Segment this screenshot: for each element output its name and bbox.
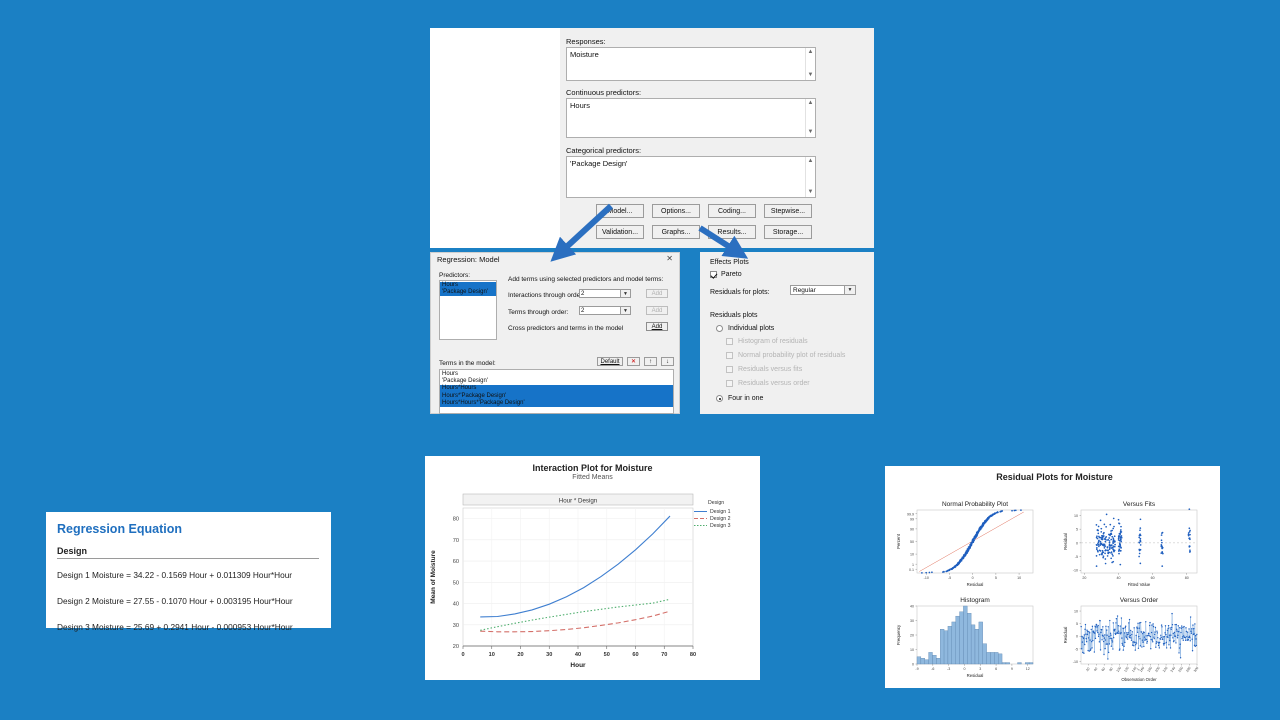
add-terms-label: Add	[652, 308, 663, 314]
stepwise-button-label: Stepwise...	[771, 208, 805, 215]
effects-plots-panel: Effects Plots Pareto Residuals for plots…	[700, 252, 874, 414]
histogram-of-residuals-label: Histogram of residuals	[738, 337, 808, 346]
terms-order-value: 2	[581, 308, 584, 314]
card-accent-bottom	[425, 680, 760, 684]
close-icon: ✕	[631, 358, 636, 365]
svg-text:10: 10	[489, 652, 495, 658]
legend-swatch	[694, 518, 707, 519]
interactions-order-value: 2	[581, 291, 584, 297]
svg-text:120: 120	[1123, 666, 1130, 673]
interaction-plot-title: Interaction Plot for Moisture	[425, 463, 760, 473]
svg-text:140: 140	[1131, 666, 1138, 673]
terms-order-select[interactable]: 2 ▼	[579, 306, 631, 315]
svg-text:-5: -5	[1075, 647, 1078, 651]
svg-text:Mean of Moisture: Mean of Moisture	[430, 550, 437, 604]
svg-text:40: 40	[575, 652, 581, 658]
checkbox-icon[interactable]	[726, 352, 733, 359]
svg-text:99.9: 99.9	[907, 512, 914, 516]
normal-probability-plot-row[interactable]: Normal probability plot of residuals	[726, 351, 845, 360]
regression-equation-title: Regression Equation	[57, 522, 319, 536]
default-button[interactable]: Default	[597, 357, 623, 366]
svg-text:80: 80	[1185, 576, 1189, 580]
svg-text:200: 200	[1154, 666, 1161, 673]
svg-text:0: 0	[972, 576, 974, 580]
normal-probability-plot-label: Normal probability plot of residuals	[738, 351, 845, 360]
effects-plots-heading: Effects Plots	[710, 258, 749, 267]
svg-text:0: 0	[1076, 635, 1078, 639]
svg-text:40: 40	[1093, 667, 1099, 672]
model-dialog-title: Regression: Model	[437, 255, 500, 264]
svg-text:90: 90	[910, 528, 914, 532]
chevron-down-icon[interactable]: ▼	[620, 290, 630, 297]
svg-text:70: 70	[661, 652, 667, 658]
svg-text:60: 60	[632, 652, 638, 658]
options-button-label: Options...	[661, 208, 691, 215]
legend-item: Design 1	[694, 508, 754, 515]
responses-label: Responses:	[566, 37, 816, 46]
svg-text:10: 10	[1074, 514, 1078, 518]
legend-item: Design 3	[694, 522, 754, 529]
legend-label: Design 1	[710, 509, 730, 515]
svg-text:260: 260	[1177, 666, 1184, 673]
terms-in-model-label: Terms in the model:	[439, 359, 496, 368]
svg-text:6: 6	[995, 667, 997, 671]
svg-text:Versus Order: Versus Order	[1120, 597, 1159, 604]
legend-item: Design 2	[694, 515, 754, 522]
cross-add-label: Add	[652, 324, 663, 330]
svg-text:5: 5	[995, 576, 997, 580]
svg-text:Observation Order: Observation Order	[1121, 677, 1157, 682]
interaction-plot-subtitle: Fitted Means	[425, 474, 760, 481]
pareto-checkbox-row[interactable]: Pareto	[710, 270, 742, 279]
svg-text:9: 9	[1011, 667, 1013, 671]
svg-text:220: 220	[1162, 666, 1169, 673]
svg-text:5: 5	[1076, 528, 1078, 532]
close-icon[interactable]: ✕	[666, 254, 673, 263]
scroll-down-icon[interactable]: ▼	[806, 71, 815, 80]
scroll-down-icon[interactable]: ▼	[806, 188, 815, 197]
interactions-order-select[interactable]: 2 ▼	[579, 289, 631, 298]
svg-text:20: 20	[517, 652, 523, 658]
terms-through-order-label: Terms through order:	[508, 308, 568, 317]
svg-text:Percent: Percent	[896, 533, 901, 549]
svg-text:Frequency: Frequency	[896, 624, 901, 645]
default-button-label: Default	[600, 359, 619, 365]
svg-text:10: 10	[1074, 609, 1078, 613]
arrow-up-icon: ↑	[649, 359, 652, 365]
svg-text:-10: -10	[1073, 569, 1078, 573]
residuals-versus-fits-row[interactable]: Residuals versus fits	[726, 365, 802, 374]
equation-line: Design 3 Moisture = 25.69 + 0.2941 Hour …	[57, 614, 319, 640]
regression-model-dialog: Regression: Model ✕ Predictors: Hours 'P…	[430, 252, 680, 414]
svg-text:Residual: Residual	[1063, 533, 1068, 550]
residuals-versus-order-label: Residuals versus order	[738, 379, 810, 388]
move-term-up-button[interactable]: ↑	[644, 357, 657, 366]
legend-title: Design	[708, 500, 754, 506]
continuous-predictors-value: Hours	[567, 99, 815, 113]
continuous-predictors-label: Continuous predictors:	[566, 88, 816, 97]
continuous-predictors-listbox[interactable]: Hours ▲ ▼	[566, 98, 816, 138]
svg-text:12: 12	[1026, 667, 1030, 671]
add-interactions-button[interactable]: Add	[646, 289, 668, 298]
stepwise-button[interactable]: Stepwise...	[764, 204, 812, 218]
legend-label: Design 2	[710, 516, 730, 522]
coding-button[interactable]: Coding...	[708, 204, 756, 218]
svg-text:-10: -10	[924, 576, 929, 580]
predictor-item[interactable]: Hours	[440, 282, 496, 289]
svg-text:60: 60	[453, 559, 459, 565]
svg-text:Residual: Residual	[967, 673, 984, 678]
svg-text:3: 3	[979, 667, 981, 671]
individual-plots-label: Individual plots	[728, 324, 774, 333]
individual-plots-radio-row[interactable]: Individual plots	[716, 324, 774, 333]
term-item[interactable]: 'Package Design'	[440, 378, 673, 385]
checkbox-icon[interactable]	[710, 271, 717, 278]
svg-text:-3: -3	[947, 667, 950, 671]
accent-bar	[43, 512, 46, 628]
svg-text:Residual: Residual	[967, 582, 984, 587]
residuals-versus-fits-label: Residuals versus fits	[738, 365, 802, 374]
svg-text:20: 20	[910, 633, 914, 637]
svg-text:-5: -5	[948, 576, 951, 580]
pareto-label: Pareto	[721, 270, 742, 279]
svg-text:20: 20	[1082, 576, 1086, 580]
graphs-button-label: Graphs...	[662, 229, 691, 236]
regression-dialog: Responses: Moisture ▲ ▼ Continuous predi…	[430, 28, 874, 248]
term-item[interactable]: Hours*Hours*'Package Design'	[440, 400, 673, 407]
residuals-for-plots-label: Residuals for plots:	[710, 288, 770, 297]
card-accent-bottom	[885, 688, 1224, 692]
validation-button-label: Validation...	[602, 229, 638, 236]
svg-text:60: 60	[1151, 576, 1155, 580]
continuous-predictors-scrollbar[interactable]: ▲ ▼	[805, 99, 815, 137]
histogram-of-residuals-row[interactable]: Histogram of residuals	[726, 337, 808, 346]
add-terms-header: Add terms using selected predictors and …	[508, 275, 663, 284]
responses-listbox[interactable]: Moisture ▲ ▼	[566, 47, 816, 81]
categorical-predictors-listbox[interactable]: 'Package Design' ▲ ▼	[566, 156, 816, 198]
add-interactions-label: Add	[652, 291, 663, 297]
cross-add-button[interactable]: Add	[646, 322, 668, 331]
svg-text:50: 50	[604, 652, 610, 658]
svg-text:20: 20	[453, 644, 459, 650]
residuals-for-plots-select[interactable]: Regular ▼	[790, 285, 856, 295]
validation-button[interactable]: Validation...	[596, 225, 644, 239]
delete-term-button[interactable]: ✕	[627, 357, 640, 366]
svg-text:10: 10	[910, 648, 914, 652]
svg-text:280: 280	[1185, 666, 1192, 673]
four-in-one-label: Four in one	[728, 394, 763, 403]
predictors-label: Predictors:	[439, 271, 470, 280]
storage-button[interactable]: Storage...	[764, 225, 812, 239]
scroll-up-icon[interactable]: ▲	[806, 48, 815, 57]
regression-equation-card: Regression Equation Design Design 1 Mois…	[43, 512, 331, 628]
cross-predictors-label: Cross predictors and terms in the model	[508, 324, 623, 333]
model-dialog-titlebar[interactable]: Regression: Model ✕	[431, 253, 679, 267]
coding-button-label: Coding...	[718, 208, 746, 215]
regression-equation-group-header: Design	[57, 546, 319, 559]
regression-dialog-body: Responses: Moisture ▲ ▼ Continuous predi…	[560, 28, 874, 248]
results-button[interactable]: Results...	[708, 225, 756, 239]
svg-text:20: 20	[1085, 667, 1091, 672]
interaction-plot-legend: Design Design 1 Design 2 Design 3	[694, 500, 754, 529]
radio-icon[interactable]	[716, 395, 723, 402]
svg-text:0: 0	[963, 667, 965, 671]
model-button[interactable]: Model...	[596, 204, 644, 218]
predictors-listbox[interactable]: Hours 'Package Design'	[439, 280, 497, 340]
svg-text:240: 240	[1170, 666, 1177, 673]
term-item[interactable]: Hours	[440, 371, 673, 378]
card-accent-right	[1220, 466, 1224, 692]
svg-text:40: 40	[453, 602, 459, 608]
svg-text:180: 180	[1147, 666, 1154, 673]
svg-text:30: 30	[546, 652, 552, 658]
svg-text:Versus Fits: Versus Fits	[1123, 501, 1156, 508]
svg-text:80: 80	[453, 517, 459, 523]
svg-text:80: 80	[690, 652, 696, 658]
svg-text:-6: -6	[931, 667, 934, 671]
chevron-down-icon[interactable]: ▼	[844, 286, 855, 294]
legend-swatch	[694, 525, 707, 526]
svg-text:Hour: Hour	[570, 662, 586, 669]
svg-text:70: 70	[453, 538, 459, 544]
svg-text:0: 0	[461, 652, 464, 658]
residuals-plots-heading: Residuals plots	[710, 311, 757, 320]
svg-text:10: 10	[910, 553, 914, 557]
svg-text:Hour * Design: Hour * Design	[559, 498, 598, 505]
svg-text:Fitted Value: Fitted Value	[1128, 582, 1151, 587]
storage-button-label: Storage...	[773, 229, 803, 236]
svg-text:5: 5	[1076, 622, 1078, 626]
move-term-down-button[interactable]: ↓	[661, 357, 674, 366]
svg-text:40: 40	[1117, 576, 1121, 580]
responses-scrollbar[interactable]: ▲ ▼	[805, 48, 815, 80]
svg-text:-10: -10	[1073, 660, 1078, 664]
svg-text:1: 1	[912, 563, 914, 567]
terms-in-model-listbox[interactable]: Hours 'Package Design' Hours*Hours Hours…	[439, 369, 674, 414]
svg-text:50: 50	[453, 580, 459, 586]
checkbox-icon[interactable]	[726, 366, 733, 373]
interaction-plot-card: Interaction Plot for Moisture Fitted Mea…	[425, 456, 760, 684]
svg-text:0.1: 0.1	[909, 568, 914, 572]
scroll-up-icon[interactable]: ▲	[806, 157, 815, 166]
svg-text:Histogram: Histogram	[960, 597, 990, 604]
svg-text:0: 0	[912, 662, 914, 666]
results-button-label: Results...	[717, 229, 746, 236]
responses-value: Moisture	[567, 48, 815, 62]
svg-text:80: 80	[1108, 667, 1114, 672]
radio-icon[interactable]	[716, 325, 723, 332]
add-terms-button[interactable]: Add	[646, 306, 668, 315]
svg-text:0: 0	[1076, 541, 1078, 545]
scroll-down-icon[interactable]: ▼	[806, 128, 815, 137]
svg-text:-5: -5	[1075, 555, 1078, 559]
categorical-predictors-scrollbar[interactable]: ▲ ▼	[805, 157, 815, 197]
model-button-label: Model...	[608, 208, 633, 215]
arrow-down-icon: ↓	[666, 359, 669, 365]
svg-text:60: 60	[1101, 667, 1107, 672]
svg-text:30: 30	[910, 619, 914, 623]
checkbox-icon[interactable]	[726, 338, 733, 345]
residual-plots-svg: Normal Probability Plot99.99990501010.1-…	[885, 484, 1224, 684]
term-item[interactable]: Hours*'Package Design'	[440, 393, 673, 400]
interactions-through-order-label: Interactions through order:	[508, 291, 584, 300]
term-item[interactable]: Hours*Hours	[440, 385, 673, 392]
equation-line: Design 2 Moisture = 27.55 - 0.1070 Hour …	[57, 588, 319, 614]
legend-swatch	[694, 511, 707, 512]
svg-text:30: 30	[453, 623, 459, 629]
graphs-button[interactable]: Graphs...	[652, 225, 700, 239]
predictor-item[interactable]: 'Package Design'	[440, 289, 496, 296]
residual-plots-card: Residual Plots for Moisture Normal Proba…	[885, 466, 1224, 692]
residuals-for-plots-value: Regular	[793, 287, 816, 294]
svg-text:300: 300	[1193, 666, 1200, 673]
svg-text:100: 100	[1116, 666, 1123, 673]
svg-text:50: 50	[910, 540, 914, 544]
scroll-up-icon[interactable]: ▲	[806, 99, 815, 108]
svg-text:-9: -9	[915, 667, 918, 671]
checkbox-icon[interactable]	[726, 380, 733, 387]
svg-text:40: 40	[910, 604, 914, 608]
svg-text:Residual: Residual	[1063, 627, 1068, 644]
legend-label: Design 3	[710, 523, 730, 529]
svg-text:10: 10	[1017, 576, 1021, 580]
chevron-down-icon[interactable]: ▼	[620, 307, 630, 314]
svg-text:Normal Probability Plot: Normal Probability Plot	[942, 501, 1008, 508]
svg-text:160: 160	[1139, 666, 1146, 673]
options-button[interactable]: Options...	[652, 204, 700, 218]
four-in-one-radio-row[interactable]: Four in one	[716, 394, 763, 403]
categorical-predictors-value: 'Package Design'	[567, 157, 815, 171]
svg-text:99: 99	[910, 517, 914, 521]
residual-plots-title: Residual Plots for Moisture	[885, 472, 1224, 482]
residuals-versus-order-row[interactable]: Residuals versus order	[726, 379, 810, 388]
categorical-predictors-label: Categorical predictors:	[566, 146, 816, 155]
equation-line: Design 1 Moisture = 34.22 - 0.1569 Hour …	[57, 562, 319, 588]
